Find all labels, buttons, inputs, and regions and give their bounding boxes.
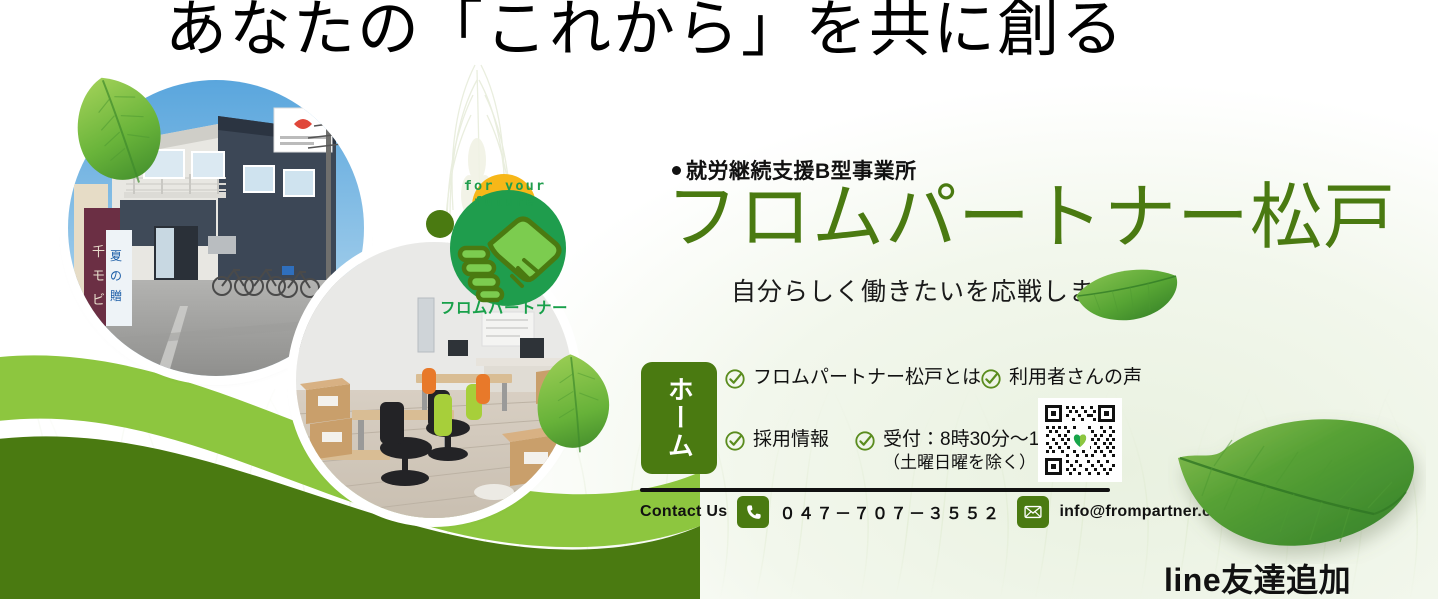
check-circle-icon xyxy=(980,368,1002,390)
hero-banner: 千 モ ビ 夏 の 贈 xyxy=(0,0,1438,599)
nav-link-voices-label: 利用者さんの声 xyxy=(1009,366,1142,390)
check-circle-icon xyxy=(724,368,746,390)
bullet-dot-icon xyxy=(672,166,681,175)
nav-link-voices[interactable]: 利用者さんの声 xyxy=(980,366,1142,390)
mail-icon[interactable] xyxy=(1017,496,1049,528)
home-button[interactable]: ホーム xyxy=(641,362,717,474)
nav-link-recruit-label: 採用情報 xyxy=(753,428,829,452)
leaf-icon xyxy=(1168,404,1426,564)
phone-icon[interactable] xyxy=(737,496,769,528)
leaf-icon xyxy=(58,72,194,192)
page-title: あなたの「これから」を共に創る xyxy=(0,0,1290,65)
nav-link-recruit[interactable]: 採用情報 xyxy=(724,428,829,452)
nav-link-about-label: フロムパートナー松戸とは xyxy=(753,366,981,390)
nav-link-about[interactable]: フロムパートナー松戸とは xyxy=(724,366,981,390)
brand-tagline: 自分らしく働きたいを応戦します xyxy=(731,272,1121,308)
phone-number[interactable]: ０４７－７０７－３５５２ xyxy=(779,500,1001,524)
logo-tagline: for your future xyxy=(432,178,578,210)
line-add-friend-label: line友達追加 xyxy=(1164,555,1351,599)
qr-code[interactable] xyxy=(1038,398,1122,482)
logo-name: フロムパートナー xyxy=(424,296,584,318)
contact-label: Contact Us xyxy=(640,503,727,521)
home-button-label: ホーム xyxy=(664,376,695,460)
svg-text:の: の xyxy=(110,269,122,283)
leaf-icon xyxy=(521,352,633,464)
svg-text:ビ: ビ xyxy=(92,292,105,307)
check-circle-icon xyxy=(854,430,876,452)
svg-text:贈: 贈 xyxy=(110,289,122,303)
svg-text:夏: 夏 xyxy=(110,249,122,263)
svg-text:千: 千 xyxy=(92,244,105,259)
check-circle-icon xyxy=(724,430,746,452)
svg-text:モ: モ xyxy=(92,268,105,283)
company-logo: for your future フロムパートナー xyxy=(424,152,584,324)
nav-hours[interactable]: 受付：8時30分〜17時 （土曜日曜を除く） xyxy=(854,428,1069,474)
leaf-icon xyxy=(1072,262,1188,324)
contact-row: Contact Us ０４７－７０７－３５５２ info@frompartner… xyxy=(640,492,1236,532)
brand-name: フロムパートナー松戸 xyxy=(666,182,1396,254)
